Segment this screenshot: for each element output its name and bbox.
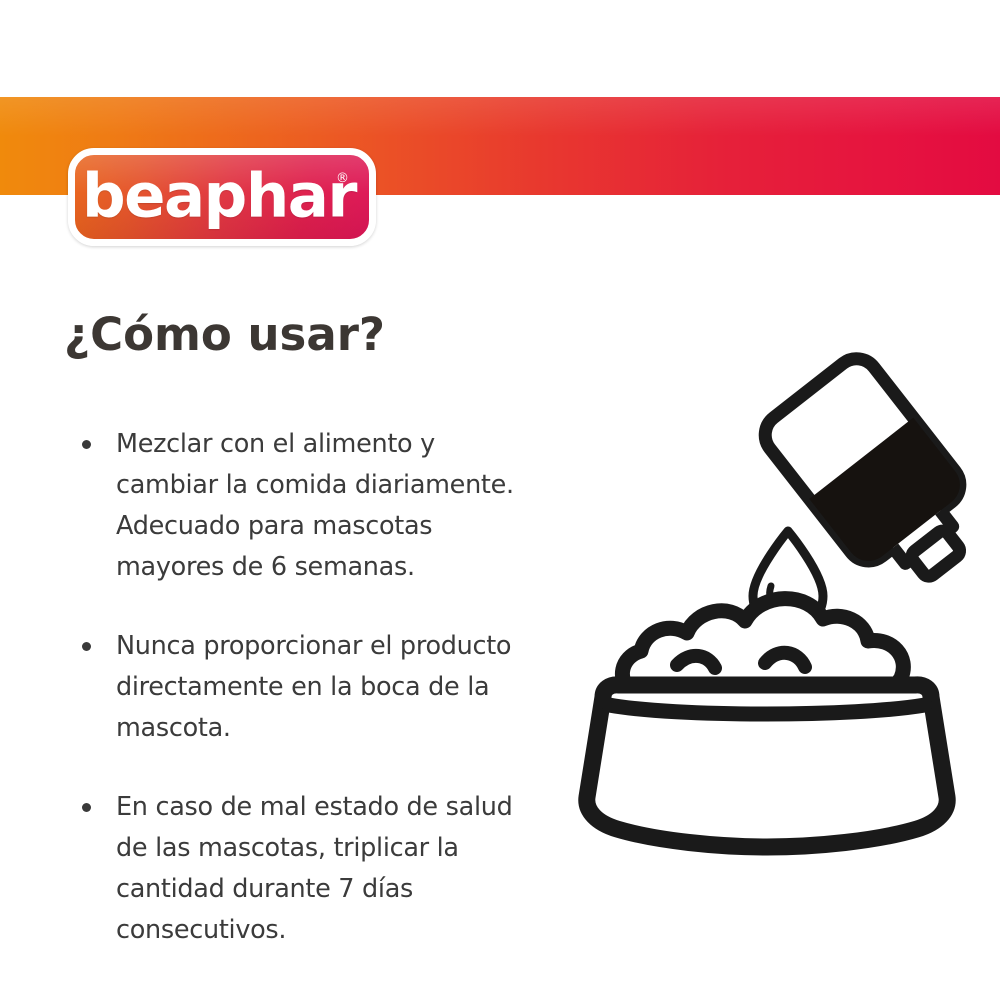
list-item-text: Mezclar con el alimento y cambiar la com…: [116, 429, 514, 582]
usage-instruction-list: Mezclar con el alimento y cambiar la com…: [72, 424, 542, 989]
registered-trademark-icon: ®: [336, 172, 349, 185]
bullet-dot-icon: [82, 440, 91, 449]
list-item: Mezclar con el alimento y cambiar la com…: [72, 424, 542, 588]
list-item: En caso de mal estado de salud de las ma…: [72, 787, 542, 951]
brand-wordmark: beaphar: [75, 165, 369, 226]
bullet-dot-icon: [82, 642, 91, 651]
list-item-text: En caso de mal estado de salud de las ma…: [116, 792, 512, 945]
bullet-dot-icon: [82, 803, 91, 812]
instruction-card: beaphar ® ¿Cómo usar? Mezclar con el ali…: [0, 0, 1000, 1000]
page-title: ¿Cómo usar?: [64, 308, 385, 361]
banner-sheen: [0, 97, 1000, 136]
list-item-text: Nunca proporcionar el producto directame…: [116, 631, 511, 743]
usage-illustration: [565, 345, 985, 885]
list-item: Nunca proporcionar el producto directame…: [72, 626, 542, 749]
beaphar-logo-badge: beaphar ®: [68, 148, 376, 246]
pet-food-bowl-icon: [587, 599, 947, 847]
